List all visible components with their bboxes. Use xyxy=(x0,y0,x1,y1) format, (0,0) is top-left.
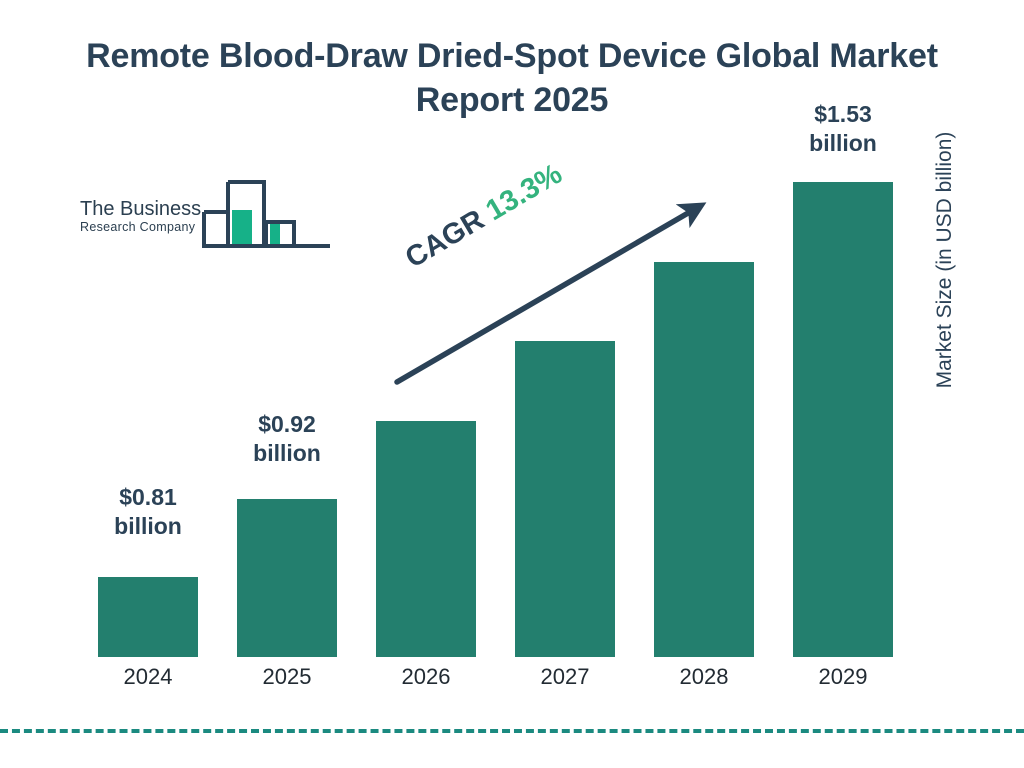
bar-2029 xyxy=(793,182,893,657)
cagr-annotation: CAGR 13.3% xyxy=(400,158,568,276)
cagr-value: 13.3% xyxy=(481,158,568,227)
bar-2024 xyxy=(98,577,198,657)
bar-value-label-2029-line1: $1.53 xyxy=(783,100,903,129)
x-tick-2027: 2027 xyxy=(505,664,625,690)
plot-area: $0.81 billion $0.92 billion $1.53 billio… xyxy=(0,0,1024,768)
cagr-label: CAGR xyxy=(400,204,490,275)
x-tick-2024: 2024 xyxy=(88,664,208,690)
bar-value-label-2024-line2: billion xyxy=(88,512,208,541)
x-tick-2026: 2026 xyxy=(366,664,486,690)
footer-divider xyxy=(0,729,1024,733)
bar-value-label-2025-line1: $0.92 xyxy=(227,410,347,439)
bar-value-label-2025-line2: billion xyxy=(227,439,347,468)
bar-value-label-2029: $1.53 billion xyxy=(783,100,903,158)
bar-value-label-2024: $0.81 billion xyxy=(88,483,208,541)
bar-value-label-2025: $0.92 billion xyxy=(227,410,347,468)
bar-value-label-2024-line1: $0.81 xyxy=(88,483,208,512)
bar-2026 xyxy=(376,421,476,657)
x-tick-2029: 2029 xyxy=(783,664,903,690)
bar-2025 xyxy=(237,499,337,657)
x-tick-2028: 2028 xyxy=(644,664,764,690)
bar-2027 xyxy=(515,341,615,657)
bar-value-label-2029-line2: billion xyxy=(783,129,903,158)
x-tick-2025: 2025 xyxy=(227,664,347,690)
chart-canvas: Remote Blood-Draw Dried-Spot Device Glob… xyxy=(0,0,1024,768)
bar-2028 xyxy=(654,262,754,657)
y-axis-title: Market Size (in USD billion) xyxy=(933,100,957,420)
